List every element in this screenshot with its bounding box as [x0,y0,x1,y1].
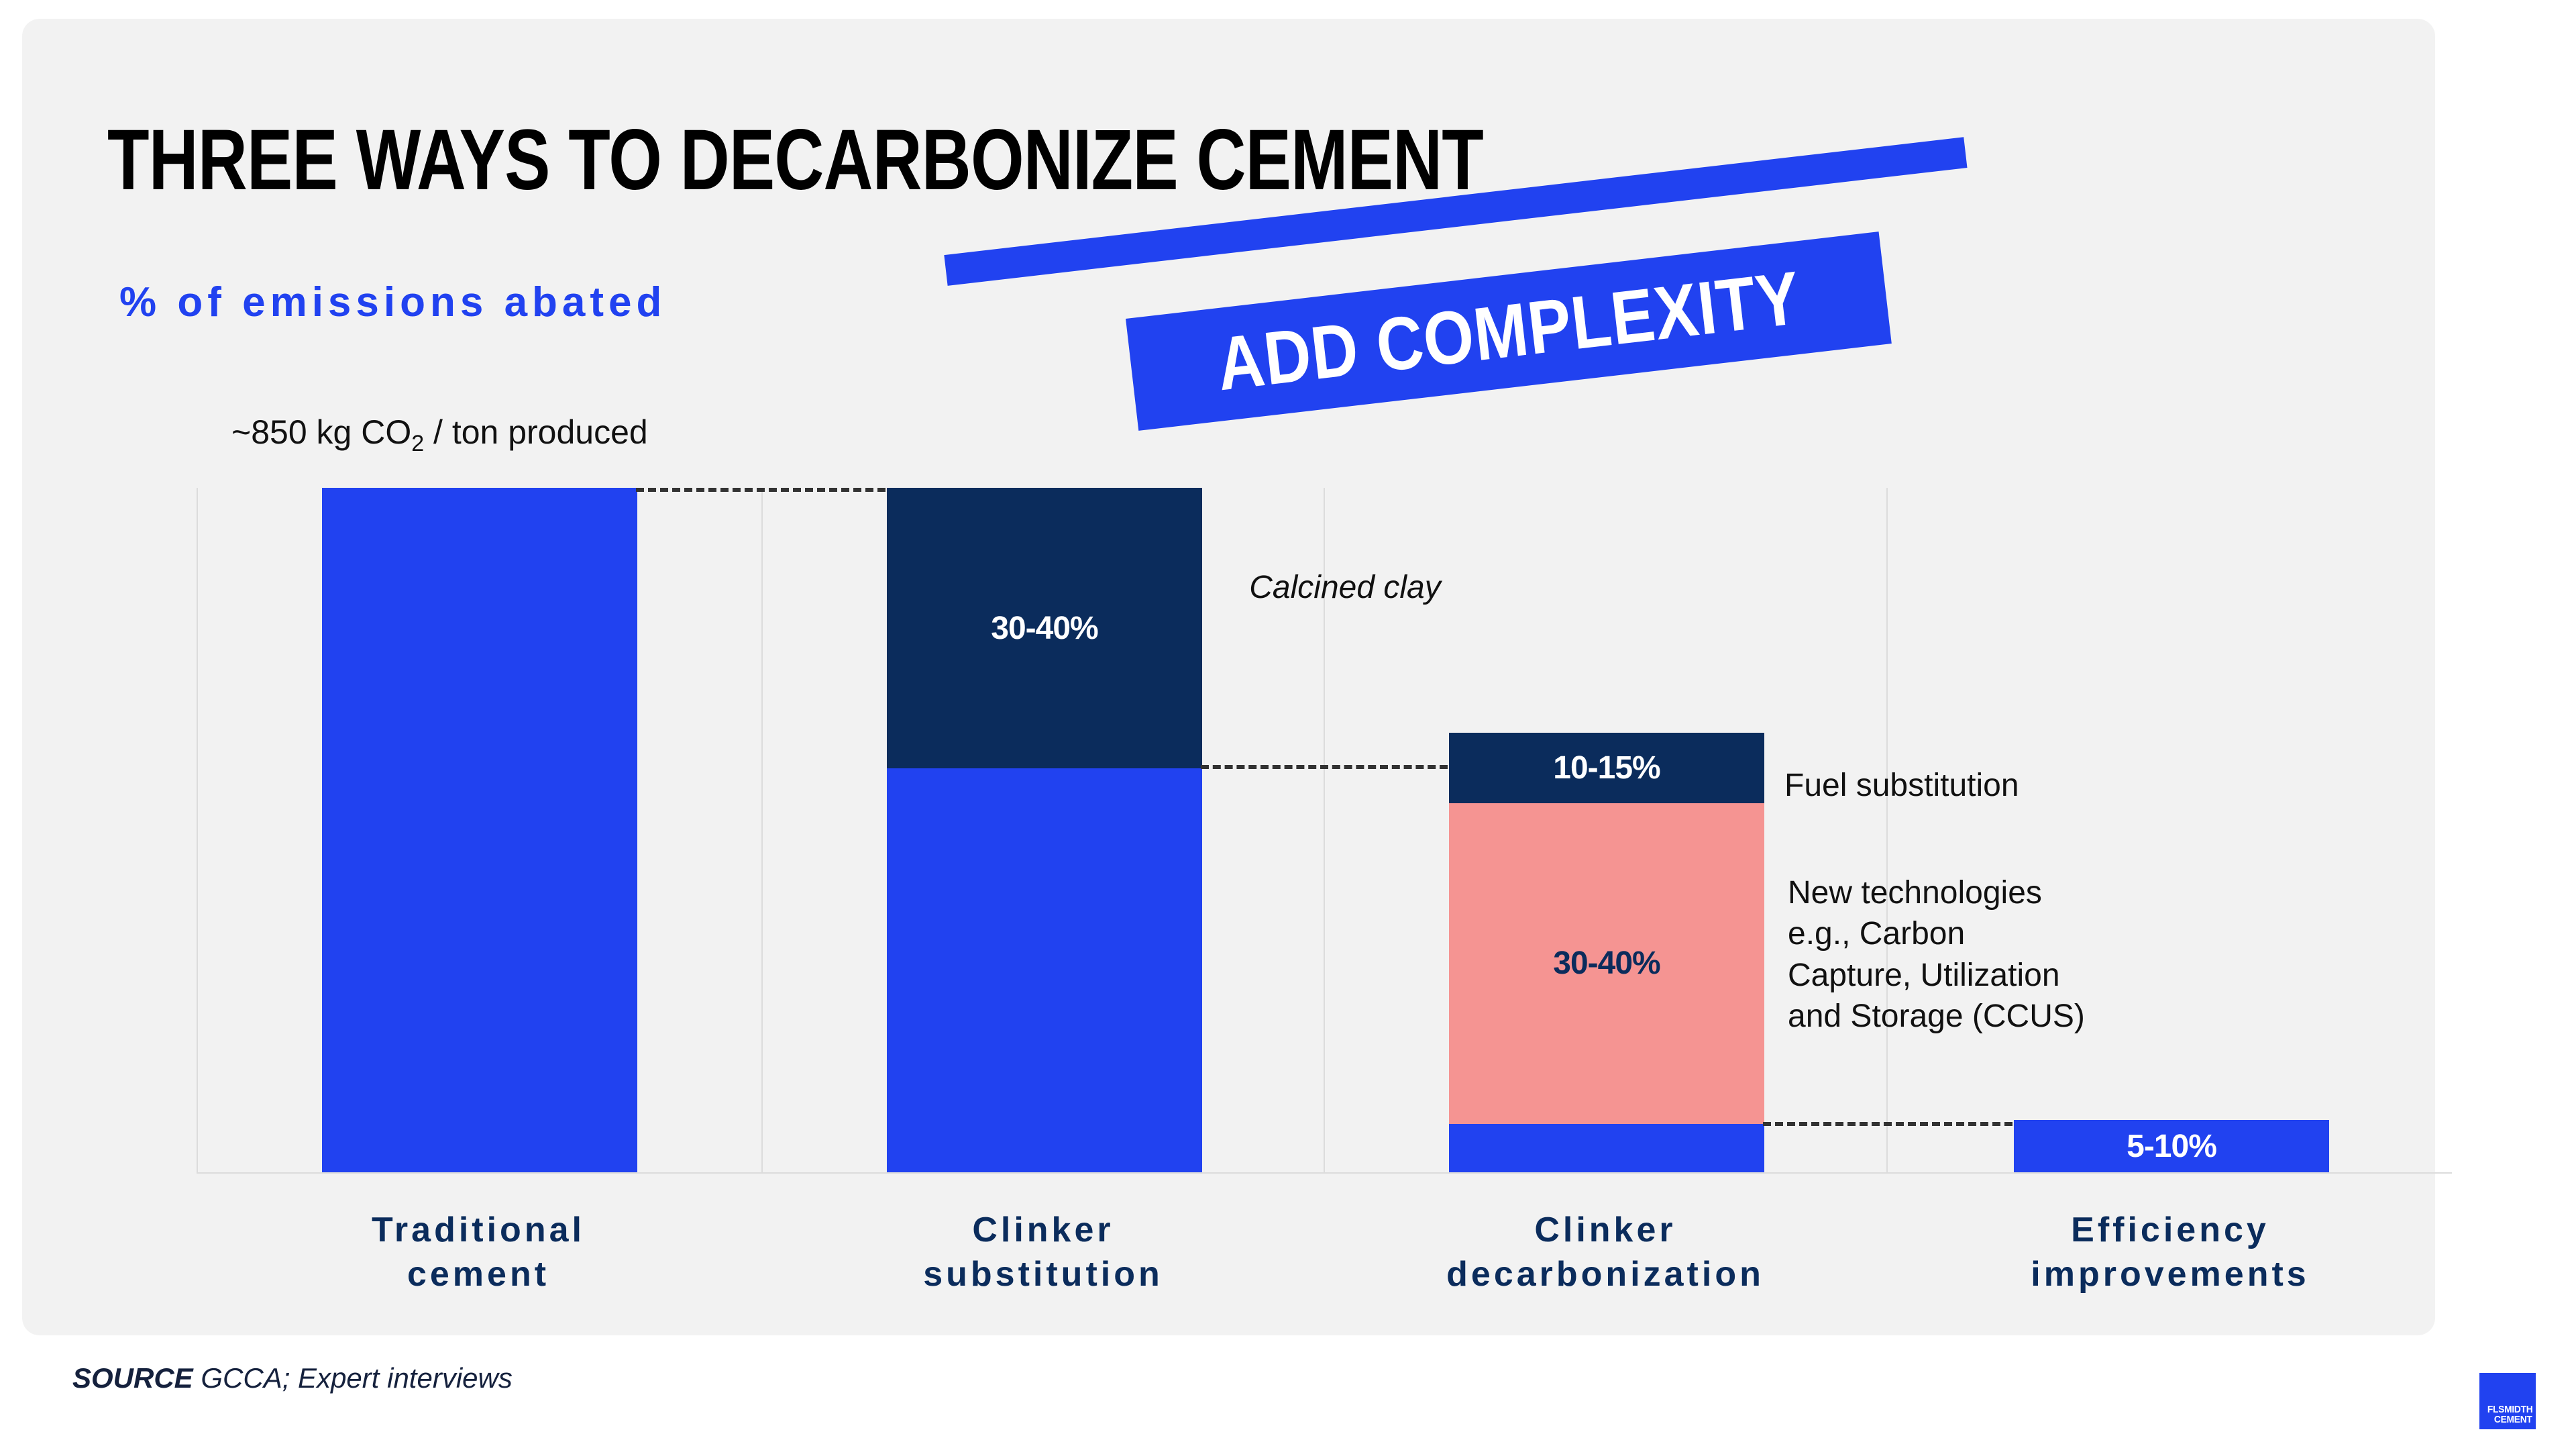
axis-note-subscript: 2 [411,431,424,456]
connector-line-2 [1201,765,1448,769]
bar-segment-label: 30-40% [1553,945,1660,982]
bar-traditional-cement[interactable] [322,488,637,1172]
logo-line-1: FLSMIDTH [2487,1404,2532,1415]
flsmidth-cement-logo: FLSMIDTH CEMENT [2479,1373,2536,1429]
annotation-calcined-clay: Calcined clay [1234,567,1456,608]
category-label-line: cement [270,1252,686,1296]
category-label-line: Traditional [270,1208,686,1252]
logo-line-2: CEMENT [2494,1415,2532,1425]
category-label-line: improvements [1962,1252,2378,1296]
bar-segment-fuel-substitution[interactable]: 10-15% [1449,733,1764,803]
category-label-line: substitution [835,1252,1251,1296]
bar-segment-calcined-clay[interactable]: 30-40% [887,488,1202,768]
category-label-efficiency-improvements: Efficiency improvements [1962,1208,2378,1296]
connector-line-1 [636,488,885,492]
bar-segment-label: 10-15% [1553,750,1660,786]
bar-segment-new-technologies[interactable]: 30-40% [1449,803,1764,1124]
source-value: GCCA; Expert interviews [201,1362,512,1394]
category-gridline-1 [761,488,763,1172]
category-label-clinker-substitution: Clinker substitution [835,1208,1251,1296]
axis-note-main: ~850 kg CO [231,413,411,451]
source-note: SOURCE GCCA; Expert interviews [72,1362,513,1394]
bar-segment-remaining-emissions[interactable] [1449,1124,1764,1172]
bar-segment-efficiency[interactable]: 5-10% [2014,1120,2329,1172]
bar-segment-baseline-emissions[interactable] [322,488,637,1172]
bar-efficiency-improvements[interactable]: 5-10% [2014,1120,2329,1172]
annotation-line: Capture, Utilization [1788,955,2204,996]
annotation-line: and Storage (CCUS) [1788,996,2204,1037]
bar-segment-remaining-emissions[interactable] [887,768,1202,1172]
category-label-clinker-decarbonization: Clinker decarbonization [1397,1208,1813,1296]
category-label-line: decarbonization [1397,1252,1813,1296]
bar-segment-label: 30-40% [991,610,1097,647]
annotation-new-technologies: New technologies e.g., Carbon Capture, U… [1788,872,2204,1037]
annotation-fuel-substitution: Fuel substitution [1784,765,2019,806]
annotation-line: New technologies [1788,872,2204,913]
category-gridline-3 [1886,488,1888,1172]
category-label-line: Clinker [1397,1208,1813,1252]
category-label-traditional-cement: Traditional cement [270,1208,686,1296]
bar-clinker-substitution[interactable]: 30-40% [887,488,1202,1172]
axis-note-rest: / ton produced [424,413,648,451]
bar-segment-label: 5-10% [2127,1128,2216,1165]
connector-line-3 [1763,1122,2012,1126]
source-label: SOURCE [72,1362,193,1394]
emissions-abated-chart: ~850 kg CO2 / ton produced 30-40% 10-15%… [0,0,2576,1438]
chart-axis-note: ~850 kg CO2 / ton produced [231,413,648,457]
bar-clinker-decarbonization[interactable]: 10-15% 30-40% [1449,733,1764,1172]
annotation-line: e.g., Carbon [1788,913,2204,954]
category-label-line: Clinker [835,1208,1251,1252]
category-label-line: Efficiency [1962,1208,2378,1252]
